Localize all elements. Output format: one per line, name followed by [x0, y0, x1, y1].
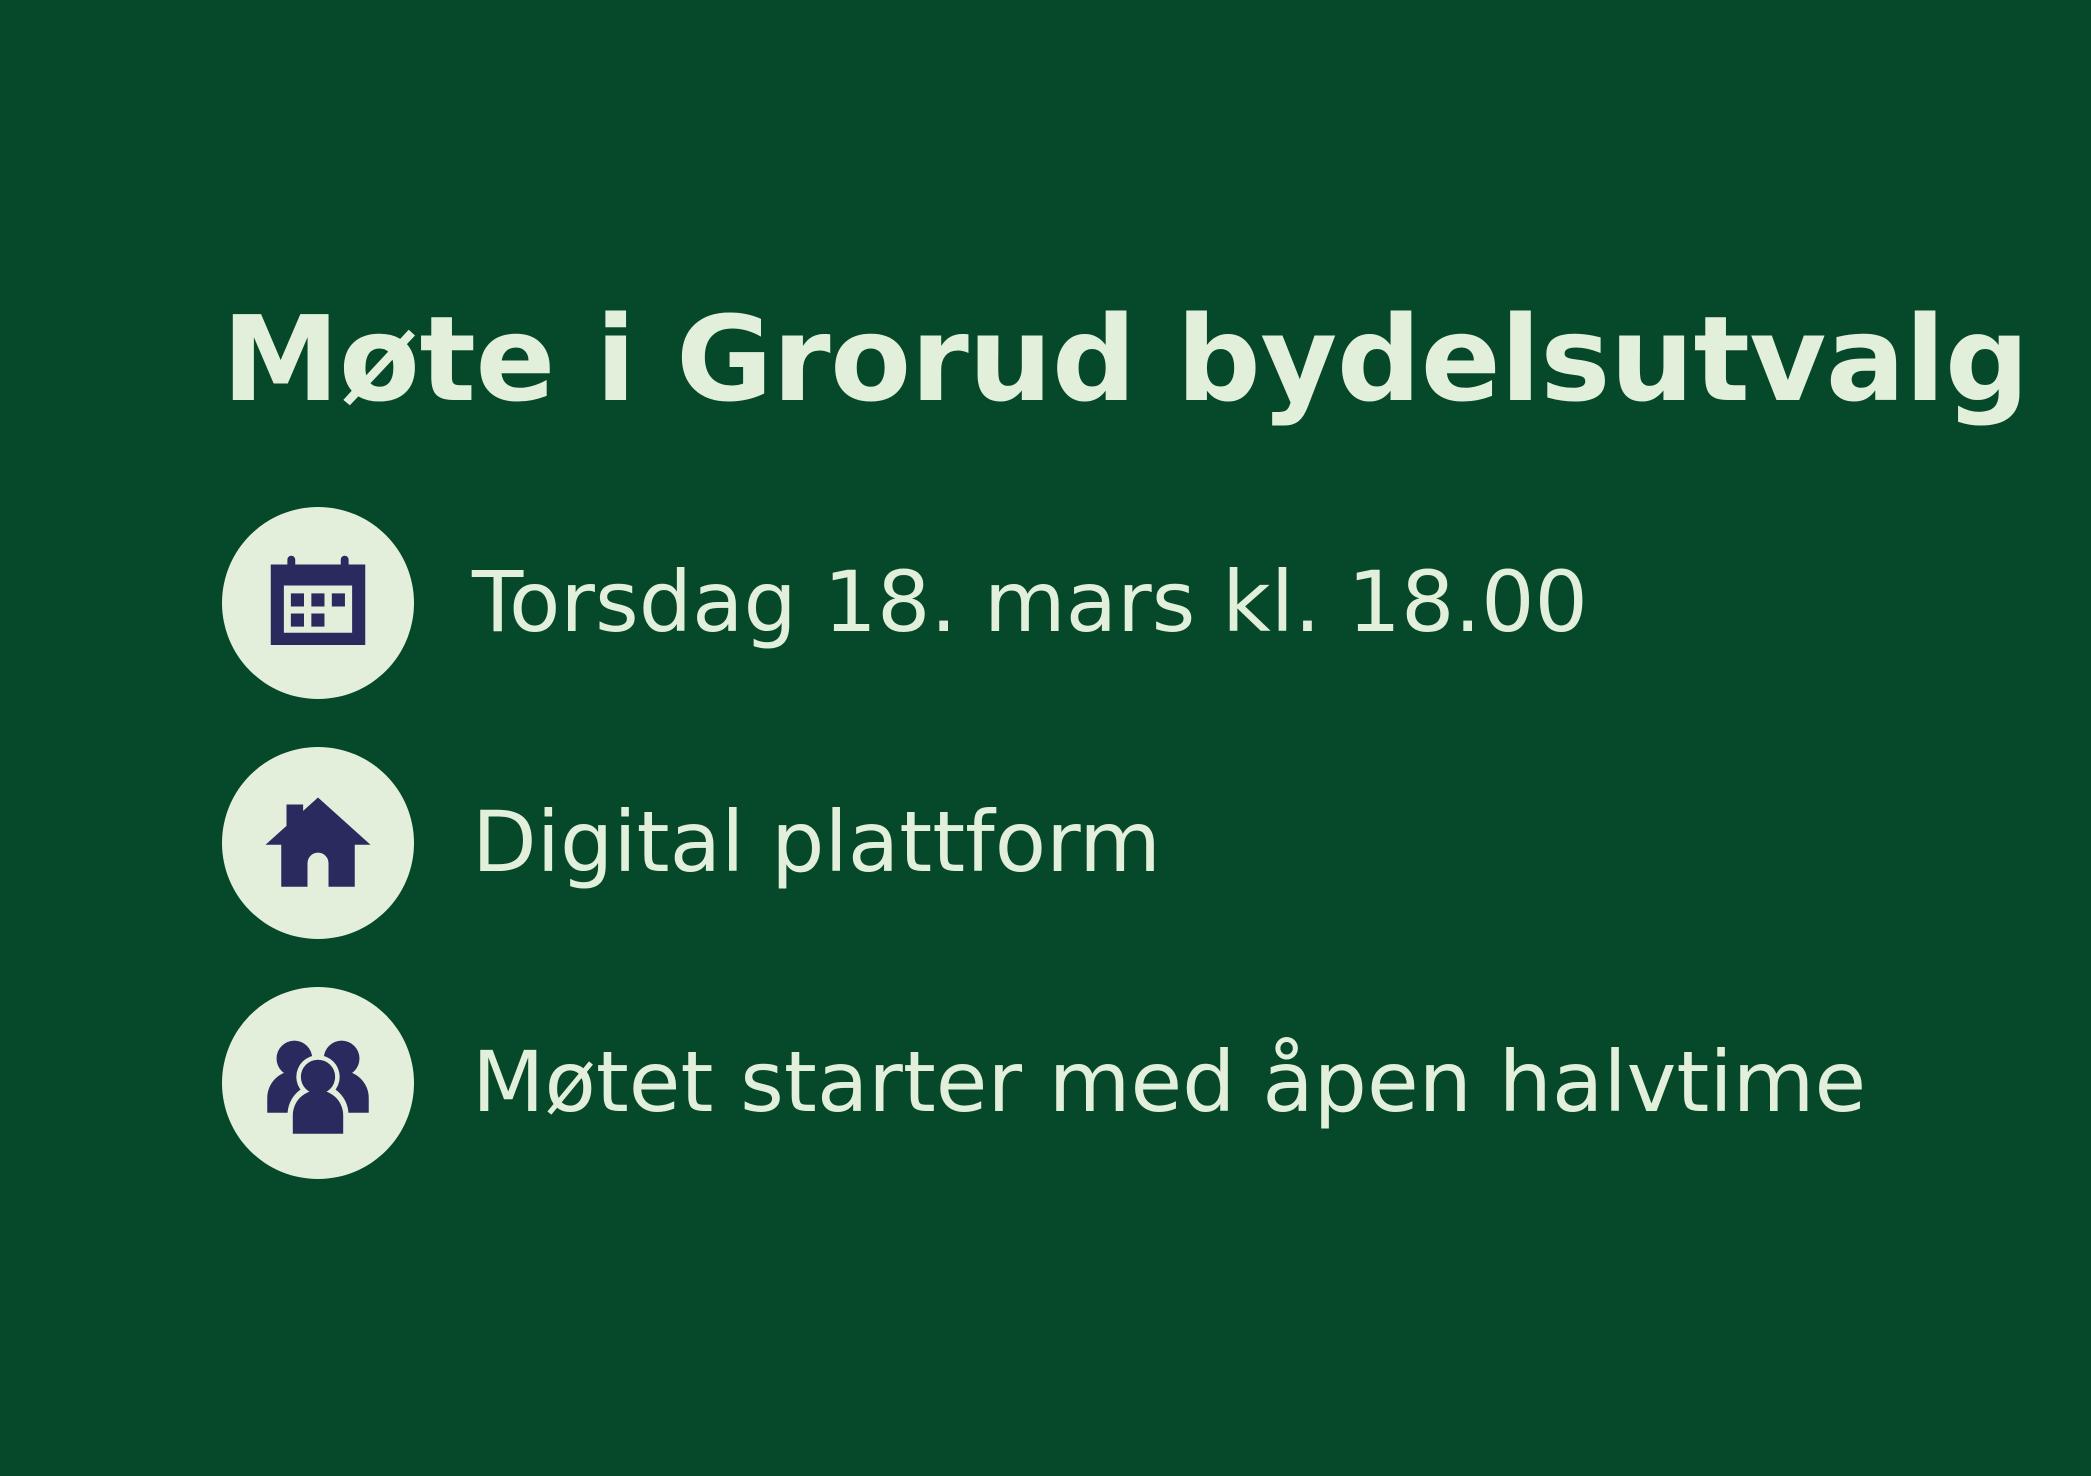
- calendar-icon: [222, 507, 414, 699]
- poster-canvas: Møte i Grorud bydelsutvalg: [0, 0, 2091, 1476]
- list-item-label: Torsdag 18. mars kl. 18.00: [472, 557, 1588, 648]
- list-item: Digital plattform: [222, 747, 1971, 939]
- list-item-label: Møtet starter med åpen halvtime: [472, 1037, 1866, 1128]
- list-item: Møtet starter med åpen halvtime: [222, 987, 1971, 1179]
- people-group-icon: [222, 987, 414, 1179]
- info-list: Torsdag 18. mars kl. 18.00 Digital platt…: [222, 507, 1971, 1179]
- poster-content: Møte i Grorud bydelsutvalg: [222, 0, 1971, 1476]
- house-icon: [222, 747, 414, 939]
- list-item: Torsdag 18. mars kl. 18.00: [222, 507, 1971, 699]
- page-title: Møte i Grorud bydelsutvalg: [222, 297, 1971, 422]
- list-item-label: Digital plattform: [472, 797, 1161, 888]
